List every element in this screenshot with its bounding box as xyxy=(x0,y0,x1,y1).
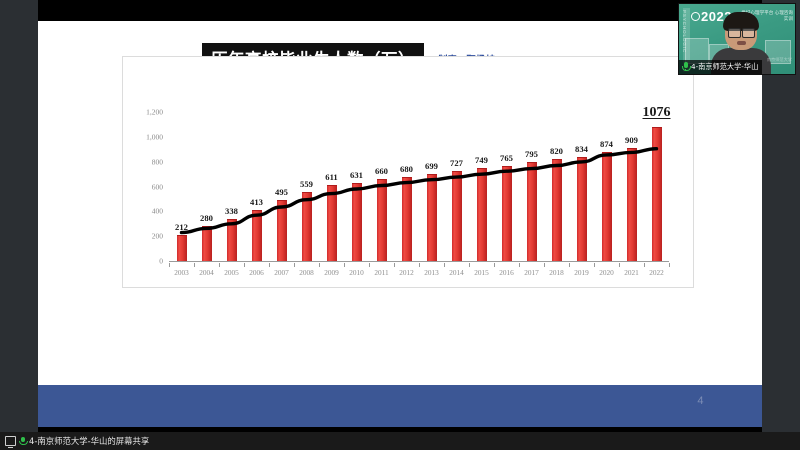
x-axis-tick-label: 2008 xyxy=(299,268,314,277)
slide-page-number: 4 xyxy=(697,395,704,407)
x-axis-tick-mark xyxy=(444,263,445,267)
chart-value-label: 559 xyxy=(300,179,313,189)
x-axis-tick-mark xyxy=(669,263,670,267)
slide-footer-band: 4 xyxy=(38,385,762,427)
chart-value-label: 749 xyxy=(475,155,488,165)
x-axis-tick-label: 2007 xyxy=(274,268,289,277)
x-axis-tick-label: 2012 xyxy=(399,268,414,277)
x-axis-tick-label: 2014 xyxy=(449,268,464,277)
x-axis-tick-mark xyxy=(244,263,245,267)
screen-share-status-bar: 4-南京师范大学-华山的屏幕共享 xyxy=(0,432,800,450)
chart-y-axis: 02004006008001,0001,200 xyxy=(123,112,167,261)
viewer-left-gutter xyxy=(0,0,38,432)
x-axis-tick-label: 2016 xyxy=(499,268,514,277)
chart-value-label: 413 xyxy=(250,197,263,207)
chart-container: 02004006008001,0001,200 2122803384134955… xyxy=(122,56,694,288)
x-axis-tick-label: 2011 xyxy=(374,268,388,277)
y-axis-tick-label: 1,200 xyxy=(146,108,163,117)
presentation-slide: 历年高校毕业生人数（万） 制表：职场蛙 02004006008001,0001,… xyxy=(38,21,762,385)
x-axis-tick-label: 2015 xyxy=(474,268,489,277)
y-axis-tick-label: 400 xyxy=(152,207,163,216)
y-axis-tick-label: 1,000 xyxy=(146,132,163,141)
status-bar-text: 4-南京师范大学-华山的屏幕共享 xyxy=(29,435,149,447)
x-axis-tick-label: 2022 xyxy=(649,268,664,277)
chart-value-label: 1076 xyxy=(643,105,671,121)
screen-share-icon xyxy=(5,436,16,446)
x-axis-tick-mark xyxy=(519,263,520,267)
x-axis-tick-mark xyxy=(394,263,395,267)
chart-value-label: 699 xyxy=(425,161,438,171)
chart-value-label: 765 xyxy=(500,153,513,163)
x-axis-tick-mark xyxy=(619,263,620,267)
x-axis-tick-mark xyxy=(294,263,295,267)
chart-value-label: 874 xyxy=(600,139,613,149)
chart-data-labels: 2122803384134955596116316606806997277497… xyxy=(169,112,669,261)
x-axis-tick-mark xyxy=(344,263,345,267)
x-axis-tick-label: 2010 xyxy=(349,268,364,277)
x-axis-tick-mark xyxy=(169,263,170,267)
chart-x-axis-labels: 2003200420052006200720082009201020112012… xyxy=(169,263,669,283)
chart-value-label: 495 xyxy=(275,187,288,197)
participant-mouth xyxy=(737,41,746,45)
video-participant-name: 4-南京师范大学-华山 xyxy=(691,62,758,72)
chart-value-label: 680 xyxy=(400,164,413,174)
x-axis-tick-label: 2017 xyxy=(524,268,539,277)
x-axis-tick-mark xyxy=(644,263,645,267)
x-axis-tick-label: 2018 xyxy=(549,268,564,277)
microphone-icon xyxy=(682,62,689,71)
x-axis-tick-mark xyxy=(469,263,470,267)
x-axis-tick-label: 2005 xyxy=(224,268,239,277)
participant-glasses-icon xyxy=(728,28,755,36)
chart-value-label: 611 xyxy=(325,172,337,182)
x-axis-tick-mark xyxy=(494,263,495,267)
x-axis-tick-mark xyxy=(194,263,195,267)
x-axis-tick-mark xyxy=(594,263,595,267)
chart-value-label: 834 xyxy=(575,144,588,154)
x-axis-tick-label: 2003 xyxy=(174,268,189,277)
x-axis-tick-label: 2020 xyxy=(599,268,614,277)
screen-share-viewer: 历年高校毕业生人数（万） 制表：职场蛙 02004006008001,0001,… xyxy=(0,0,800,450)
x-axis-tick-mark xyxy=(369,263,370,267)
x-axis-tick-label: 2013 xyxy=(424,268,439,277)
x-axis-tick-label: 2009 xyxy=(324,268,339,277)
x-axis-tick-label: 2006 xyxy=(249,268,264,277)
chart-value-label: 820 xyxy=(550,146,563,156)
chart-value-label: 212 xyxy=(175,222,188,232)
x-axis-tick-mark xyxy=(219,263,220,267)
chart-value-label: 660 xyxy=(375,166,388,176)
x-axis-tick-mark xyxy=(419,263,420,267)
video-participant-label: 4-南京师范大学-华山 xyxy=(679,60,762,75)
chart-value-label: 631 xyxy=(350,170,363,180)
x-axis-tick-mark xyxy=(269,263,270,267)
y-axis-tick-label: 600 xyxy=(152,182,163,191)
x-axis-tick-mark xyxy=(319,263,320,267)
x-axis-tick-mark xyxy=(569,263,570,267)
x-axis-tick-label: 2004 xyxy=(199,268,214,277)
chart-value-label: 795 xyxy=(525,149,538,159)
participant-video-tile[interactable]: PSYCHOLOGIC 2022 世纪心理学平台 心理咨询实训 南京师范大学 4… xyxy=(678,3,796,75)
x-axis-tick-mark xyxy=(544,263,545,267)
chart-value-label: 909 xyxy=(625,135,638,145)
chart-value-label: 338 xyxy=(225,206,238,216)
chart-value-label: 727 xyxy=(450,158,463,168)
chart-value-label: 280 xyxy=(200,213,213,223)
y-axis-tick-label: 200 xyxy=(152,232,163,241)
microphone-icon xyxy=(19,437,26,446)
background-logo-icon xyxy=(691,12,700,21)
video-watermark: 南京师范大学 xyxy=(767,57,792,63)
y-axis-tick-label: 0 xyxy=(159,257,163,266)
x-axis-tick-label: 2021 xyxy=(624,268,639,277)
slide-top-letterbox xyxy=(38,0,762,21)
y-axis-tick-label: 800 xyxy=(152,157,163,166)
x-axis-tick-label: 2019 xyxy=(574,268,589,277)
